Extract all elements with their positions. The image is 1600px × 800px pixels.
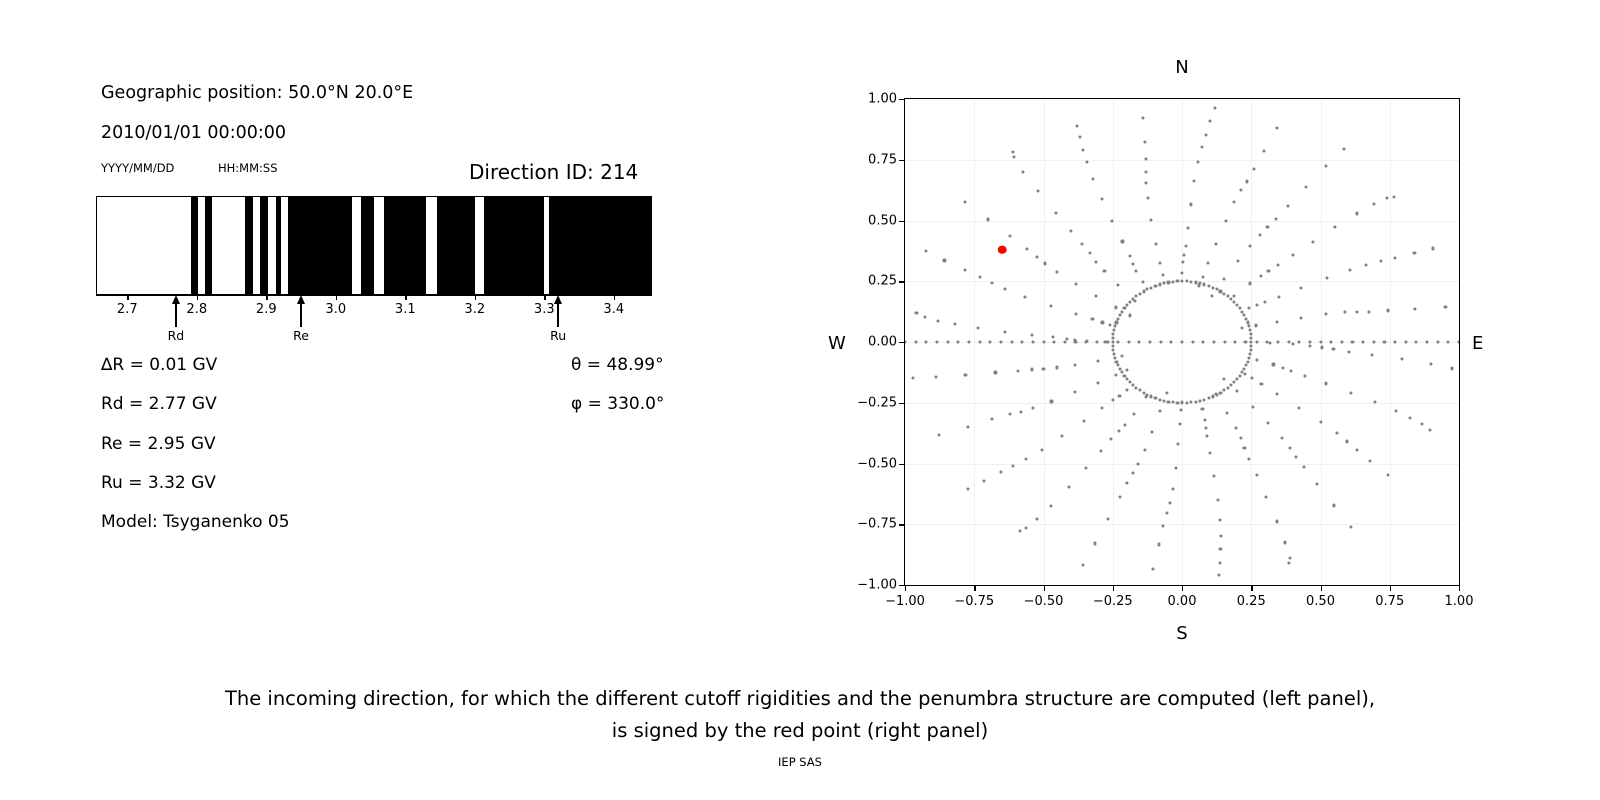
direction-point (1413, 307, 1416, 310)
direction-point (1289, 369, 1292, 372)
direction-point (1158, 261, 1161, 264)
direction-point (1112, 348, 1115, 351)
right-panel: N S W E −1.00−0.75−0.50−0.250.000.250.50… (780, 0, 1600, 660)
direction-point (1244, 317, 1247, 320)
direction-point (1150, 395, 1153, 398)
direction-point (1321, 346, 1324, 349)
direction-point (1334, 225, 1337, 228)
direction-point (1145, 181, 1148, 184)
direction-point (1233, 381, 1236, 384)
direction-point (1074, 312, 1077, 315)
direction-point (1114, 356, 1117, 359)
direction-point (1362, 340, 1365, 343)
direction-point (1158, 283, 1161, 286)
direction-point (953, 323, 956, 326)
direction-point (1223, 389, 1226, 392)
time-format-hint: HH:MM:SS (218, 161, 278, 175)
direction-point (1128, 314, 1131, 317)
direction-point (1141, 281, 1144, 284)
direction-point (1276, 127, 1279, 130)
compass-label-north: N (1175, 57, 1188, 78)
direction-point (1368, 459, 1371, 462)
direction-point (1277, 295, 1280, 298)
rigidity-marker-label: Ru (550, 328, 566, 343)
rigidity-tick-label: 3.0 (325, 302, 346, 317)
x-axis-tick (1182, 586, 1183, 591)
direction-point (1303, 375, 1306, 378)
direction-point (1095, 340, 1098, 343)
direction-point (1372, 340, 1375, 343)
direction-point (1103, 269, 1106, 272)
direction-point (1258, 233, 1261, 236)
rigidity-tick-label: 2.7 (117, 302, 138, 317)
direction-point (1251, 405, 1254, 408)
direction-point (1004, 330, 1007, 333)
direction-point (1178, 422, 1181, 425)
direction-point (1325, 276, 1328, 279)
y-axis-tick-label: 0.75 (868, 152, 897, 167)
x-axis-tick (905, 586, 906, 591)
y-axis-tick-label: 1.00 (868, 92, 897, 107)
penumbra-forbidden-band (384, 197, 426, 294)
direction-point (1016, 369, 1019, 372)
direction-point (1121, 240, 1124, 243)
direction-point (1255, 340, 1258, 343)
direction-point (1118, 495, 1121, 498)
direction-point (1167, 281, 1170, 284)
direction-point (1219, 547, 1222, 550)
direction-point (1154, 243, 1157, 246)
ru-value: Ru = 3.32 GV (101, 473, 216, 493)
direction-point (1289, 447, 1292, 450)
direction-point (1008, 413, 1011, 416)
direction-point (935, 376, 938, 379)
direction-point (1308, 344, 1311, 347)
direction-point (1115, 321, 1118, 324)
direction-point (1114, 306, 1117, 309)
direction-point (1287, 205, 1290, 208)
x-axis-tick-label: 0.00 (1168, 594, 1197, 609)
direction-point (1325, 313, 1328, 316)
direction-point (1248, 457, 1251, 460)
direction-point (1202, 340, 1205, 343)
direction-point (1052, 335, 1055, 338)
direction-point (1126, 303, 1129, 306)
direction-point (1211, 286, 1214, 289)
rigidity-tick (475, 295, 476, 300)
direction-point (1054, 211, 1057, 214)
x-axis-tick (974, 586, 975, 591)
direction-point (1165, 511, 1168, 514)
direction-point (1150, 286, 1153, 289)
direction-point (1288, 556, 1291, 559)
direction-point (964, 268, 967, 271)
y-axis-tick-label: 0.00 (868, 335, 897, 350)
direction-point (1049, 304, 1052, 307)
gridline-horizontal (905, 524, 1459, 525)
direction-point (1136, 463, 1139, 466)
direction-point (1084, 466, 1087, 469)
direction-point (1135, 295, 1138, 298)
direction-point (1272, 363, 1275, 366)
direction-point (1250, 377, 1253, 380)
direction-point (1255, 358, 1258, 361)
direction-point (1246, 360, 1249, 363)
compass-label-west: W (828, 333, 846, 354)
direction-point (1218, 518, 1221, 521)
direction-point (1082, 148, 1085, 151)
direction-point (1018, 529, 1021, 532)
direction-point (1428, 428, 1431, 431)
rigidity-tick-label: 2.8 (186, 302, 207, 317)
direction-point (1215, 242, 1218, 245)
x-axis-tick (1459, 586, 1460, 591)
direction-point (963, 200, 966, 203)
direction-point (1109, 324, 1112, 327)
direction-point (966, 425, 969, 428)
direction-point (1011, 464, 1014, 467)
y-axis-tick-label: −0.50 (857, 456, 897, 471)
direction-point (1131, 262, 1134, 265)
direction-point (1162, 524, 1165, 527)
direction-grid-chart (904, 98, 1460, 586)
direction-point (1385, 197, 1388, 200)
figure-caption: The incoming direction, for which the di… (0, 683, 1600, 747)
direction-point (1247, 307, 1250, 310)
direction-point (915, 312, 918, 315)
direction-point (1200, 145, 1203, 148)
direction-point (1300, 316, 1303, 319)
direction-point (1203, 283, 1206, 286)
rigidity-marker-label: Rd (168, 328, 185, 343)
direction-point (1074, 282, 1077, 285)
direction-point (1125, 368, 1128, 371)
direction-point (1365, 263, 1368, 266)
x-axis-tick-label: −0.75 (954, 594, 994, 609)
direction-point (1163, 282, 1166, 285)
direction-point (1073, 363, 1076, 366)
direction-point (1213, 106, 1216, 109)
direction-point (1043, 262, 1046, 265)
direction-point (946, 340, 949, 343)
direction-point (1226, 411, 1229, 414)
direction-point (1215, 288, 1218, 291)
direction-point (1131, 472, 1134, 475)
direction-point (1186, 226, 1189, 229)
direction-point (1117, 283, 1120, 286)
direction-point (1432, 247, 1435, 250)
direction-point (1277, 263, 1280, 266)
direction-point (1224, 219, 1227, 222)
direction-point (1154, 397, 1157, 400)
penumbra-forbidden-band (484, 197, 544, 294)
direction-point (1349, 526, 1352, 529)
direction-point (1204, 133, 1207, 136)
direction-point (1053, 340, 1056, 343)
direction-point (1101, 406, 1104, 409)
direction-point (1340, 340, 1343, 343)
direction-point (1275, 320, 1278, 323)
direction-point (1135, 269, 1138, 272)
direction-point (1237, 259, 1240, 262)
direction-point (1234, 340, 1237, 343)
direction-point (989, 340, 992, 343)
y-axis-tick-label: −1.00 (857, 578, 897, 593)
direction-point (1203, 398, 1206, 401)
penumbra-forbidden-band (276, 197, 282, 294)
direction-point (1333, 504, 1336, 507)
direction-point (1219, 391, 1222, 394)
direction-point (1171, 280, 1174, 283)
direction-point (1201, 407, 1204, 410)
direction-point (1146, 197, 1149, 200)
direction-point (924, 250, 927, 253)
direction-point (1163, 399, 1166, 402)
direction-point (1063, 340, 1066, 343)
direction-point (1247, 325, 1250, 328)
direction-point (1282, 366, 1285, 369)
direction-point (1113, 329, 1116, 332)
direction-point (1025, 457, 1028, 460)
direction-point (1208, 452, 1211, 455)
caption-line-1: The incoming direction, for which the di… (0, 683, 1600, 715)
direction-point (1171, 487, 1174, 490)
direction-point (1114, 373, 1117, 376)
x-axis-tick (1044, 586, 1045, 591)
direction-point (1219, 290, 1222, 293)
direction-point (1235, 377, 1238, 380)
penumbra-forbidden-band (245, 197, 253, 294)
direction-point (914, 340, 917, 343)
direction-point (1244, 364, 1247, 367)
direction-point (1207, 284, 1210, 287)
direction-point (967, 340, 970, 343)
direction-point (1203, 419, 1206, 422)
direction-point (1266, 226, 1269, 229)
direction-point (1226, 386, 1229, 389)
direction-point (1276, 340, 1279, 343)
direction-point (1201, 275, 1204, 278)
x-axis-tick-label: −1.00 (885, 594, 925, 609)
direction-point (1094, 295, 1097, 298)
direction-point (1081, 243, 1084, 246)
direction-point (1256, 303, 1259, 306)
direction-point (1116, 317, 1119, 320)
direction-point (1311, 240, 1314, 243)
direction-point (1275, 520, 1278, 523)
direction-point (1308, 340, 1311, 343)
direction-point (1074, 340, 1077, 343)
direction-point (1267, 421, 1270, 424)
gridline-horizontal (905, 160, 1459, 161)
direction-point (1394, 409, 1397, 412)
direction-point (1078, 135, 1081, 138)
direction-point (1165, 391, 1168, 394)
direction-point (1343, 311, 1346, 314)
direction-point (1425, 340, 1428, 343)
direction-point (1036, 189, 1039, 192)
direction-point (937, 319, 940, 322)
direction-point (1024, 527, 1027, 530)
direction-point (1118, 394, 1121, 397)
direction-point (1291, 254, 1294, 257)
direction-point (1042, 367, 1045, 370)
direction-point (1394, 340, 1397, 343)
direction-point (1011, 150, 1014, 153)
direction-point (1181, 261, 1184, 264)
direction-point (1021, 340, 1024, 343)
rigidity-tick (197, 295, 198, 300)
x-axis-tick (1321, 586, 1322, 591)
x-axis-tick (1251, 586, 1252, 591)
direction-point (1447, 340, 1450, 343)
direction-point (1233, 295, 1236, 298)
direction-point (1404, 340, 1407, 343)
direction-point (1379, 260, 1382, 263)
direction-point (1209, 119, 1212, 122)
penumbra-spectrum-chart (96, 196, 652, 295)
direction-point (1159, 340, 1162, 343)
direction-point (1154, 284, 1157, 287)
direction-point (1292, 343, 1295, 346)
direction-point (1238, 374, 1241, 377)
direction-point (957, 340, 960, 343)
direction-point (1219, 535, 1222, 538)
direction-point (1096, 359, 1099, 362)
penumbra-forbidden-band (191, 197, 199, 294)
direction-point (1056, 271, 1059, 274)
footer-credit: IEP SAS (0, 755, 1600, 769)
direction-point (1295, 455, 1298, 458)
direction-point (1241, 326, 1244, 329)
x-axis-tick-label: 0.50 (1306, 594, 1335, 609)
rigidity-tick-label: 3.1 (395, 302, 416, 317)
direction-point (1107, 518, 1110, 521)
direction-point (1152, 567, 1155, 570)
direction-point (923, 315, 926, 318)
direction-point (1158, 410, 1161, 413)
direction-point (1138, 292, 1141, 295)
direction-point (1330, 340, 1333, 343)
direction-point (1299, 286, 1302, 289)
direction-point (1250, 340, 1253, 343)
direction-point (1125, 389, 1128, 392)
arrow-shaft (300, 300, 302, 327)
direction-point (943, 259, 946, 262)
datetime-label: 2010/01/01 00:00:00 (101, 123, 286, 143)
direction-point (1235, 389, 1238, 392)
y-axis-tick-label: −0.75 (857, 517, 897, 532)
direction-point (1371, 353, 1374, 356)
penumbra-band-layer (97, 197, 651, 294)
direction-point (1244, 373, 1247, 376)
direction-point (1138, 340, 1141, 343)
direction-point (1196, 160, 1199, 163)
x-axis-tick (1390, 586, 1391, 591)
direction-point (1246, 321, 1249, 324)
direction-point (1263, 150, 1266, 153)
direction-point (1146, 288, 1149, 291)
direction-point (1245, 180, 1248, 183)
gridline-horizontal (905, 464, 1459, 465)
direction-point (1132, 412, 1135, 415)
phi-value: φ = 330.0° (571, 394, 664, 414)
direction-point (911, 376, 914, 379)
direction-point (1234, 427, 1237, 430)
direction-point (1325, 165, 1328, 168)
direction-point (1283, 541, 1286, 544)
rigidity-tick (544, 295, 545, 300)
selected-direction-point[interactable] (998, 245, 1007, 254)
direction-point (1223, 378, 1226, 381)
y-axis-tick-label: −0.25 (857, 395, 897, 410)
direction-point (1211, 395, 1214, 398)
direction-point (1255, 473, 1258, 476)
direction-point (1117, 340, 1120, 343)
rigidity-tick (336, 295, 337, 300)
direction-point (1030, 333, 1033, 336)
x-axis-tick-label: −0.25 (1093, 594, 1133, 609)
direction-point (1117, 430, 1120, 433)
direction-point (1287, 562, 1290, 565)
direction-point (1061, 434, 1064, 437)
rigidity-tick (127, 295, 128, 300)
direction-point (925, 340, 928, 343)
direction-point (1216, 498, 1219, 501)
direction-point (1101, 321, 1104, 324)
direction-point (1212, 340, 1215, 343)
arrow-shaft (557, 300, 559, 327)
direction-point (1055, 366, 1058, 369)
direction-point (1223, 340, 1226, 343)
direction-point (1031, 368, 1034, 371)
direction-point (1042, 340, 1045, 343)
direction-point (1022, 170, 1025, 173)
direction-point (1260, 274, 1263, 277)
direction-point (1091, 318, 1094, 321)
rigidity-tick-label: 3.4 (603, 302, 624, 317)
direction-point (1198, 399, 1201, 402)
direction-point (1085, 340, 1088, 343)
rigidity-tick (405, 295, 406, 300)
direction-point (1049, 504, 1052, 507)
direction-point (1142, 116, 1145, 119)
direction-point (1260, 383, 1263, 386)
direction-point (1070, 229, 1073, 232)
direction-point (964, 374, 967, 377)
x-axis-tick (1113, 586, 1114, 591)
direction-point (1035, 255, 1038, 258)
date-format-hint: YYYY/MM/DD (101, 161, 174, 175)
direction-point (935, 340, 938, 343)
penumbra-forbidden-band (260, 197, 268, 294)
direction-point (1267, 270, 1270, 273)
rigidity-tick-label: 3.2 (464, 302, 485, 317)
direction-point (1356, 448, 1359, 451)
direction-point (1253, 168, 1256, 171)
direction-point (1115, 360, 1118, 363)
direction-point (1032, 406, 1035, 409)
direction-point (1123, 307, 1126, 310)
direction-point (1180, 401, 1183, 404)
direction-point (1401, 358, 1404, 361)
direction-point (994, 371, 997, 374)
direction-point (1280, 436, 1283, 439)
penumbra-forbidden-band (361, 197, 374, 294)
direction-point (1004, 288, 1007, 291)
direction-point (1189, 280, 1192, 283)
direction-point (1451, 367, 1454, 370)
